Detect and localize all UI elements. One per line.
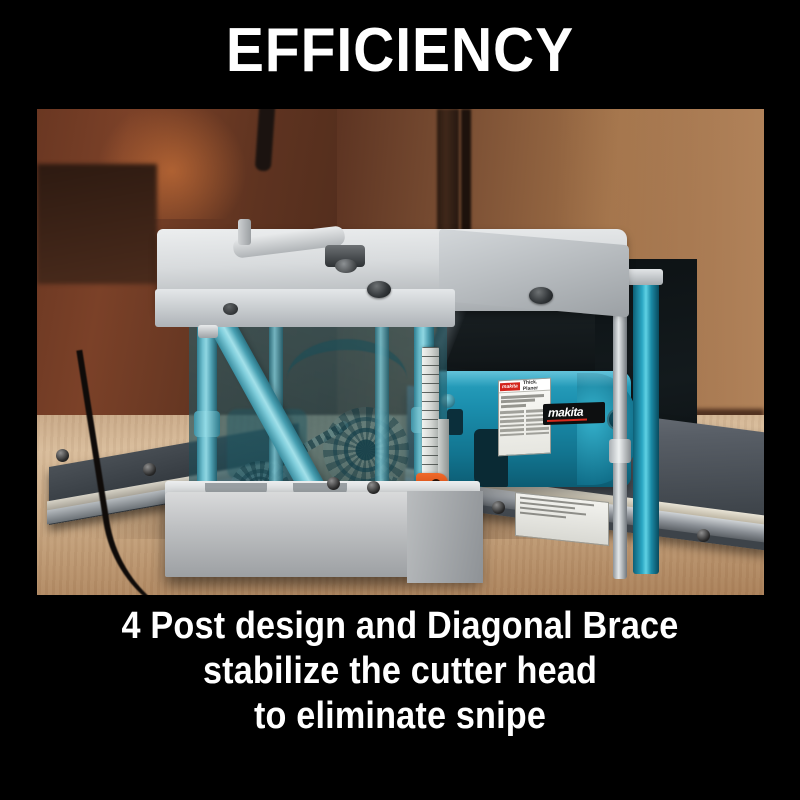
spec-cell — [500, 433, 524, 437]
column-collar — [609, 439, 631, 463]
page-title: EFFICIENCY — [32, 16, 768, 86]
dust-hose — [287, 339, 407, 420]
caption-block: 4 Post design and Diagonal Brace stabili… — [0, 604, 800, 739]
spec-cell — [500, 428, 524, 432]
spec-cell — [500, 419, 524, 423]
caption-line-2: stabilize the cutter head — [40, 649, 760, 694]
spec-row — [501, 403, 526, 407]
column-post — [633, 279, 659, 574]
spec-row — [501, 393, 544, 398]
spec-cell — [526, 427, 550, 431]
product-photo: makita Thick. Planer — [37, 109, 764, 595]
outfeed-bolt — [492, 501, 505, 514]
motor-vent — [447, 409, 463, 435]
machine-base-side — [407, 491, 483, 583]
spec-cell — [500, 410, 524, 414]
lock-knob — [529, 287, 553, 304]
lock-knob — [223, 303, 238, 315]
crank-shaft — [238, 219, 251, 245]
infeed-bolt — [56, 449, 69, 462]
spec-cell — [526, 431, 550, 435]
cord-strain-relief — [198, 325, 218, 338]
outfeed-bolt — [697, 529, 710, 542]
poster-canvas: EFFICIENCY — [0, 0, 800, 800]
spec-row — [501, 398, 535, 403]
spec-label-model: Thick. Planer — [523, 378, 550, 391]
lock-knob — [367, 281, 391, 298]
base-bolt — [367, 481, 380, 494]
badge-stripe — [547, 419, 587, 422]
spec-label-brand: makita — [500, 382, 520, 391]
base-bolt — [327, 477, 340, 490]
makita-badge-text: makita — [548, 405, 583, 420]
shelf-shadow — [37, 164, 157, 284]
spec-cell — [500, 415, 524, 419]
column-rod — [613, 279, 627, 579]
caption-line-3: to eliminate snipe — [40, 694, 760, 739]
caption-line-1: 4 Post design and Diagonal Brace — [40, 604, 760, 649]
spec-col — [500, 410, 524, 438]
spec-cell — [500, 424, 524, 428]
head-casting-front — [155, 289, 455, 327]
makita-badge: makita — [543, 402, 605, 425]
lever-pivot-cap — [335, 259, 357, 273]
